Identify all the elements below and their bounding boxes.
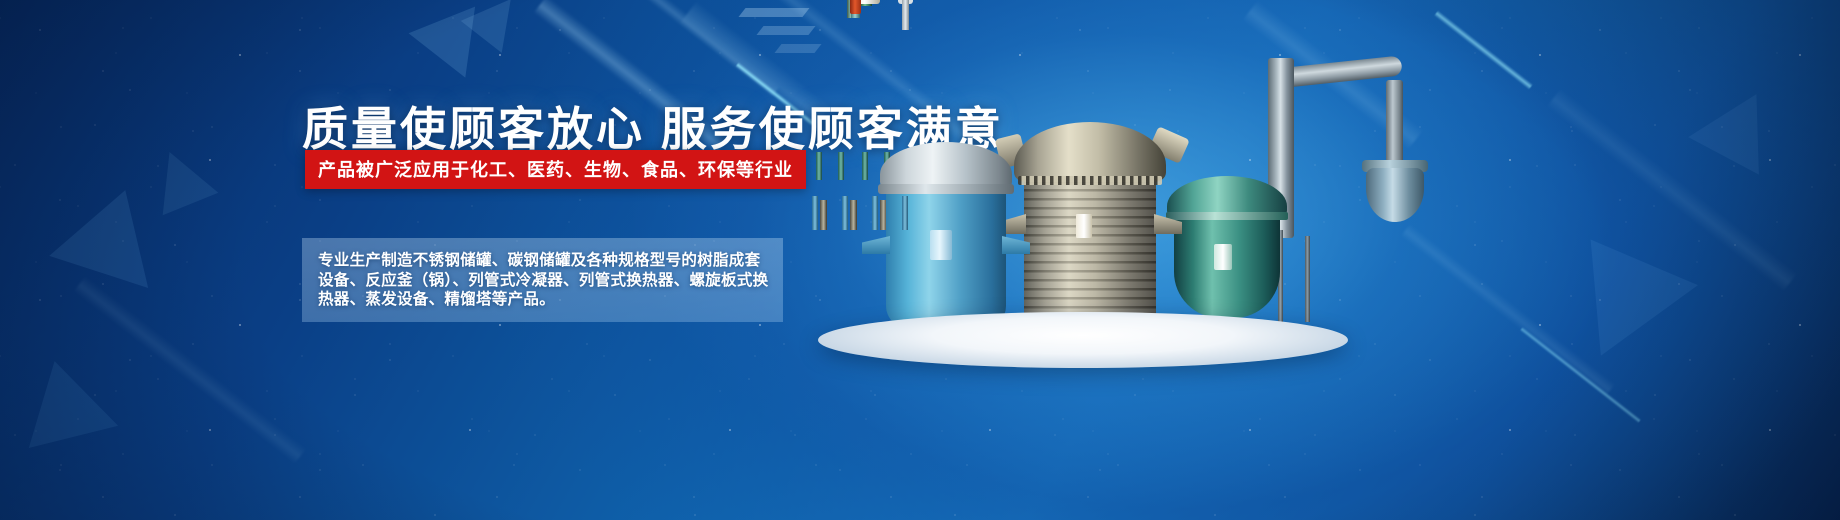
description-text: 专业生产制造不锈钢储罐、碳钢储罐及各种规格型号的树脂成套设备、反应釜（锅）、列管…: [318, 251, 770, 310]
status-badge-label: 产品被广泛应用于化工、医药、生物、食品、环保等行业: [318, 160, 793, 180]
display-platform: [818, 312, 1348, 368]
product-photo-group: [800, 40, 1420, 380]
promo-banner: 质量使顾客放心 服务使顾客满意 产品被广泛应用于化工、医药、生物、食品、环保等行…: [0, 0, 1840, 520]
status-badge: 产品被广泛应用于化工、医药、生物、食品、环保等行业: [305, 150, 806, 189]
